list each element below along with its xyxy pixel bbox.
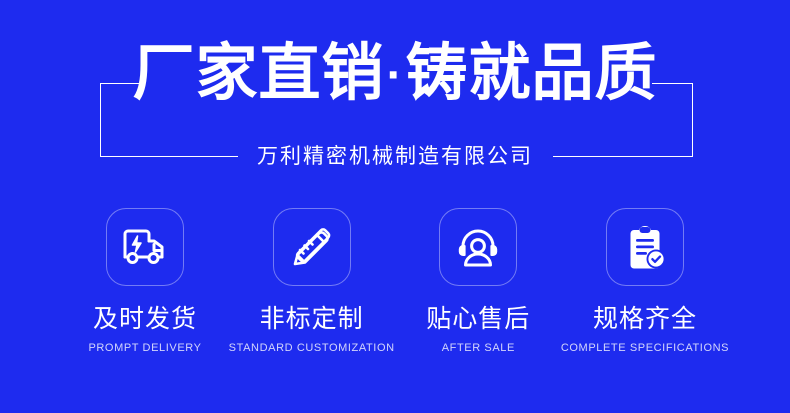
headline-separator: ·: [385, 49, 406, 102]
icon-tile: [106, 208, 184, 286]
headline-part-two: 铸就品质: [405, 39, 657, 108]
feature-label-en: AFTER SALE: [442, 341, 515, 355]
promo-banner: 厂家直销·铸就品质 万利精密机械制造有限公司: [0, 0, 790, 413]
company-name: 万利精密机械制造有限公司: [0, 143, 790, 171]
pencil-ruler-icon: [289, 224, 335, 270]
feature-list: 及时发货 PROMPT DELIVERY 非标定制: [66, 208, 724, 368]
icon-tile: [273, 208, 351, 286]
delivery-truck-icon: [121, 225, 169, 269]
feature-item-prompt-delivery[interactable]: 及时发货 PROMPT DELIVERY: [66, 208, 224, 355]
headset-support-icon: [455, 225, 501, 269]
feature-label-cn: 贴心售后: [426, 304, 530, 334]
headline-part-one: 厂家直销: [132, 39, 384, 108]
feature-label-cn: 规格齐全: [593, 304, 697, 334]
feature-label-en: COMPLETE SPECIFICATIONS: [561, 341, 729, 355]
feature-label-cn: 非标定制: [260, 304, 364, 334]
page-title: 厂家直销·铸就品质: [0, 38, 790, 112]
icon-tile: [606, 208, 684, 286]
icon-tile: [439, 208, 517, 286]
clipboard-check-icon: [623, 224, 667, 270]
feature-item-standard-customization[interactable]: 非标定制 STANDARD CUSTOMIZATION: [233, 208, 391, 355]
feature-item-complete-specifications[interactable]: 规格齐全 COMPLETE SPECIFICATIONS: [566, 208, 724, 355]
feature-label-cn: 及时发货: [93, 304, 197, 334]
feature-label-en: STANDARD CUSTOMIZATION: [229, 341, 395, 355]
feature-item-after-sale[interactable]: 贴心售后 AFTER SALE: [399, 208, 557, 355]
feature-label-en: PROMPT DELIVERY: [88, 341, 201, 355]
headline-block: 厂家直销·铸就品质 万利精密机械制造有限公司: [0, 0, 790, 195]
